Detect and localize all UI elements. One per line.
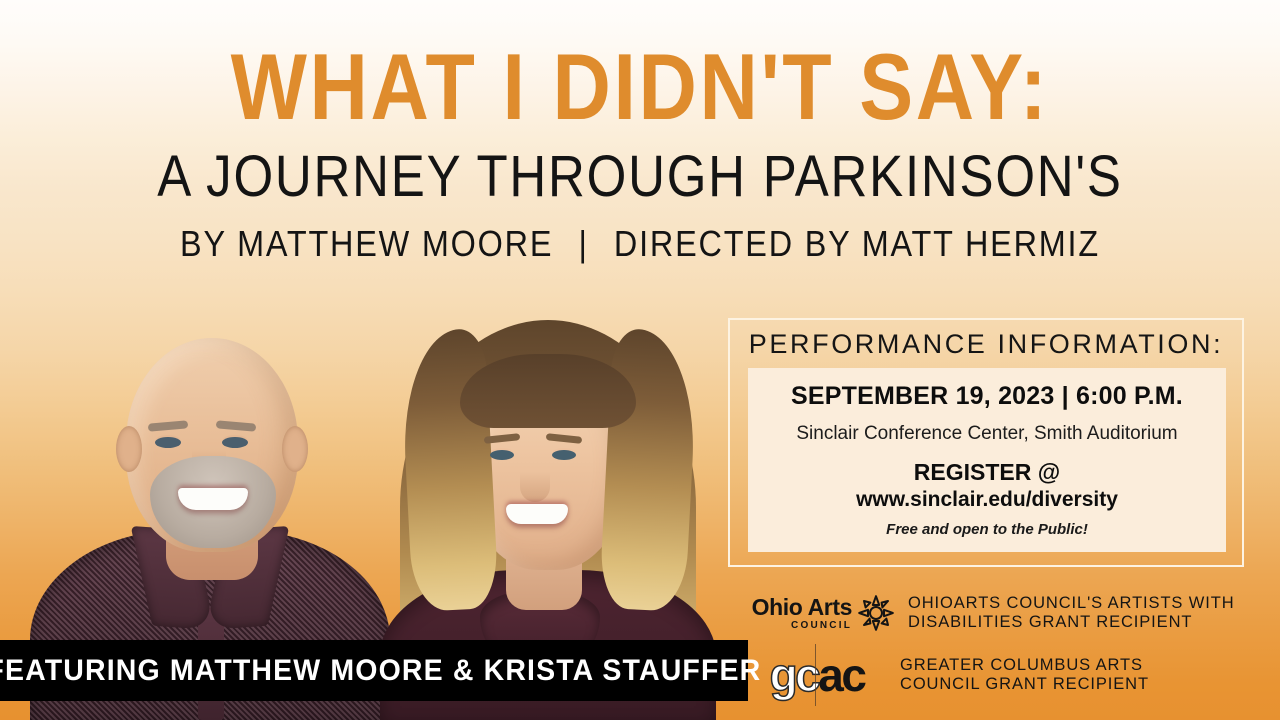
credit-line: BY MATTHEW MOORE | DIRECTED BY MATT HERM… xyxy=(64,206,1216,262)
nose xyxy=(520,472,550,502)
ear-left xyxy=(116,426,142,472)
featuring-text: FEATURING MATTHEW MOORE & KRISTA STAUFFE… xyxy=(0,654,762,688)
performance-information-box: PERFORMANCE INFORMATION: SEPTEMBER 19, 2… xyxy=(728,318,1244,567)
gcac-logo-row: gcac GREATER COLUMBUS ARTS COUNCIL GRANT… xyxy=(752,647,1262,703)
credit-separator: | xyxy=(564,223,603,264)
gcac-wordmark: gcac xyxy=(752,648,882,702)
credit-author: BY MATTHEW MOORE xyxy=(180,223,553,264)
gcac-mark-light: gc xyxy=(770,649,819,701)
featuring-banner: FEATURING MATTHEW MOORE & KRISTA STAUFFE… xyxy=(0,640,748,701)
registration-url[interactable]: www.sinclair.edu/diversity xyxy=(748,488,1226,512)
hair-bangs xyxy=(460,354,636,428)
ear-right xyxy=(282,426,308,472)
credit-director: DIRECTED BY MATT HERMIZ xyxy=(614,223,1100,264)
performance-details-panel: SEPTEMBER 19, 2023 | 6:00 P.M. Sinclair … xyxy=(748,368,1226,552)
gcac-caption-line-1: GREATER COLUMBUS ARTS xyxy=(900,656,1149,675)
gcac-caption: GREATER COLUMBUS ARTS COUNCIL GRANT RECI… xyxy=(900,656,1149,695)
register-label: REGISTER @ xyxy=(748,459,1226,486)
page-title: WHAT I DIDN'T SAY: xyxy=(90,0,1191,130)
eye-right xyxy=(552,450,576,460)
gcac-divider-rule xyxy=(815,644,816,706)
event-date-time: SEPTEMBER 19, 2023 | 6:00 P.M. xyxy=(748,382,1226,411)
ohio-arts-council-name: Ohio Arts xyxy=(752,596,852,619)
admission-note: Free and open to the Public! xyxy=(748,521,1226,538)
ohio-arts-council-caption: OHIOARTS COUNCIL'S ARTISTS WITH DISABILI… xyxy=(908,594,1235,633)
mouth xyxy=(506,504,568,524)
title-block: WHAT I DIDN'T SAY: A JOURNEY THROUGH PAR… xyxy=(0,0,1280,262)
starburst-icon xyxy=(856,593,896,633)
eye-right xyxy=(222,437,248,448)
mouth xyxy=(178,488,248,510)
oac-caption-line-1: OHIOARTS COUNCIL'S ARTISTS WITH xyxy=(908,594,1235,613)
ohio-arts-council-subtext: COUNCIL xyxy=(791,621,852,631)
page-subtitle: A JOURNEY THROUGH PARKINSON'S xyxy=(77,130,1203,206)
eye-left xyxy=(490,450,514,460)
event-poster: WHAT I DIDN'T SAY: A JOURNEY THROUGH PAR… xyxy=(0,0,1280,720)
gcac-mark-dark: ac xyxy=(818,649,864,701)
eye-left xyxy=(155,437,181,448)
oac-caption-line-2: DISABILITIES GRANT RECIPIENT xyxy=(908,613,1235,632)
ohio-arts-council-logo-row: Ohio Arts COUNCIL OHIOARTS COUNCIL'S AR xyxy=(752,585,1262,641)
grant-logos: Ohio Arts COUNCIL OHIOARTS COUNCIL'S AR xyxy=(752,585,1262,705)
event-venue: Sinclair Conference Center, Smith Audito… xyxy=(748,423,1226,445)
ohio-arts-council-wordmark: Ohio Arts COUNCIL xyxy=(752,596,852,631)
performance-information-heading: PERFORMANCE INFORMATION: xyxy=(730,329,1242,360)
gcac-caption-line-2: COUNCIL GRANT RECIPIENT xyxy=(900,675,1149,694)
